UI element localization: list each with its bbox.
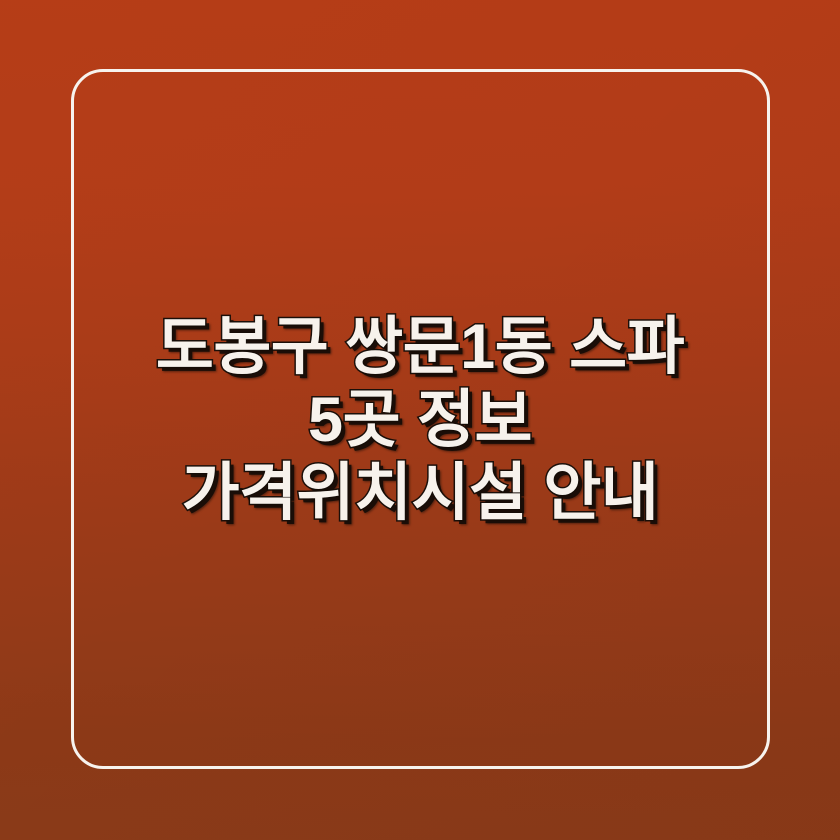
poster-canvas: 도봉구 쌍문1동 스파 5곳 정보 가격위치시설 안내 <box>0 0 840 840</box>
decorative-border-frame <box>71 69 770 769</box>
